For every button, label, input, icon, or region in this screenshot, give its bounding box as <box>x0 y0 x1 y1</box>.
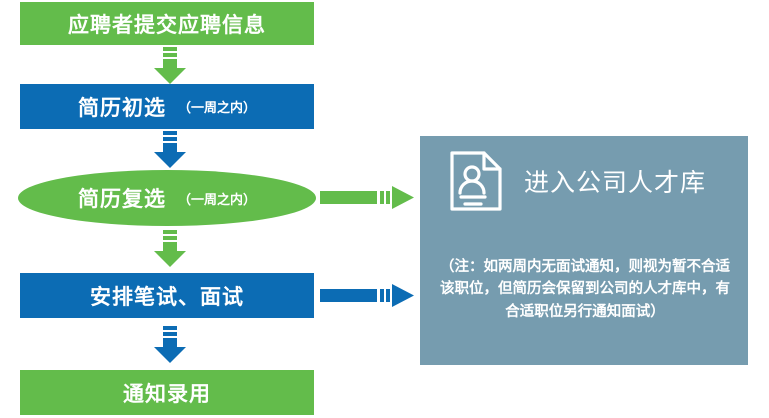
resume-document-person-icon <box>448 148 504 214</box>
flow-node-resume-review[interactable]: 简历复选 （一周之内） <box>18 170 316 226</box>
flow-node-resume-screening[interactable]: 简历初选 （一周之内） <box>20 84 314 129</box>
flow-node-offer[interactable]: 通知录用 <box>20 370 314 415</box>
flow-node-resume-review-sublabel: （一周之内） <box>178 189 256 208</box>
flow-node-resume-review-label: 简历复选 <box>78 183 166 213</box>
flow-node-resume-screening-sublabel: （一周之内） <box>178 97 256 116</box>
arrow-screen2-to-panel <box>320 185 415 211</box>
flow-node-offer-label: 通知录用 <box>123 378 211 408</box>
arrow-screen2-to-interview <box>153 230 187 268</box>
flow-node-submit[interactable]: 应聘者提交应聘信息 <box>20 2 314 45</box>
arrow-submit-to-screen1 <box>153 47 187 85</box>
flow-node-submit-label: 应聘者提交应聘信息 <box>68 9 266 39</box>
talent-pool-title: 进入公司人才库 <box>524 163 706 199</box>
recruitment-flowchart: 应聘者提交应聘信息 简历初选 （一周之内） 简历复选 （一周之内） <box>0 0 769 418</box>
flow-node-schedule-interview[interactable]: 安排笔试、面试 <box>20 273 314 318</box>
flow-node-schedule-interview-label: 安排笔试、面试 <box>90 281 244 311</box>
flow-node-resume-screening-label: 简历初选 <box>78 92 166 122</box>
arrow-screen1-to-screen2 <box>153 131 187 169</box>
talent-pool-note: （注：如两周内无面试通知，则视为暂不合适该职位，但简历会保留到公司的人才库中，有… <box>438 256 732 323</box>
arrow-interview-to-panel <box>320 283 415 309</box>
talent-pool-header: 进入公司人才库 <box>448 148 706 214</box>
talent-pool-panel[interactable]: 进入公司人才库 （注：如两周内无面试通知，则视为暂不合适该职位，但简历会保留到公… <box>420 136 748 365</box>
arrow-interview-to-offer <box>153 326 187 364</box>
